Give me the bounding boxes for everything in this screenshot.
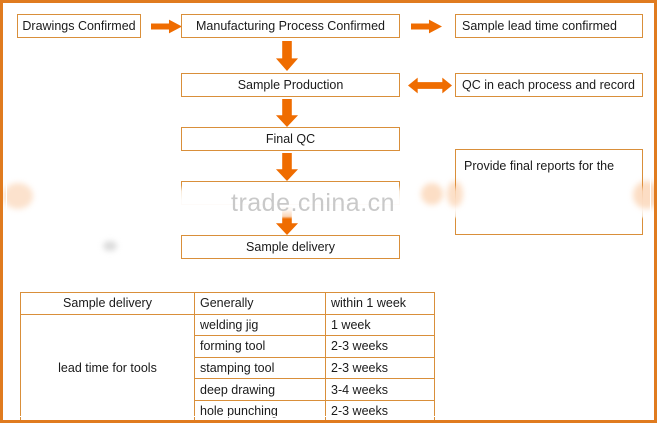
arrow-left-right-icon — [408, 77, 452, 94]
arrow-right-icon — [151, 19, 182, 34]
watermark-blot — [3, 183, 33, 209]
table-cell-label: Sample delivery — [21, 293, 195, 315]
node-final-qc: Final QC — [181, 127, 400, 151]
table-row: Sample delivery Generally within 1 week — [21, 293, 435, 315]
node-label: Drawings Confirmed — [22, 19, 135, 33]
flowchart-canvas: Drawings Confirmed Manufacturing Process… — [0, 0, 657, 423]
table-cell-item: forming tool — [195, 336, 326, 358]
table-cell-item: deep drawing — [195, 379, 326, 401]
node-label: Sample delivery — [246, 240, 335, 254]
table-cell-item: stamping tool — [195, 357, 326, 379]
node-sample-delivery: Sample delivery — [181, 235, 400, 259]
lead-time-table: Sample delivery Generally within 1 week … — [20, 292, 435, 423]
node-label: Provide final reports for the — [464, 159, 614, 173]
table-cell-time: 2-3 weeks — [326, 357, 435, 379]
table-cell-label: lead time for tools — [21, 314, 195, 422]
table-cell-item: Generally — [195, 293, 326, 315]
table-cell-time: within 1 week — [326, 293, 435, 315]
table-cell-time: 2-3 weeks — [326, 400, 435, 422]
node-provide-final-reports: Provide final reports for the — [455, 149, 643, 235]
node-obscured — [181, 181, 400, 205]
node-label: Final QC — [266, 132, 315, 146]
table-cell-time: 1 week — [326, 314, 435, 336]
node-qc-each-process: QC in each process and record — [455, 73, 643, 97]
table-cell-time: 3-4 weeks — [326, 379, 435, 401]
arrow-down-icon — [275, 99, 299, 127]
arrow-down-icon — [275, 41, 299, 71]
node-drawings-confirmed: Drawings Confirmed — [17, 14, 141, 38]
node-sample-production: Sample Production — [181, 73, 400, 97]
table-cell-item: welding jig — [195, 314, 326, 336]
table-cell-item: hole punching — [195, 400, 326, 422]
node-label: Manufacturing Process Confirmed — [196, 19, 385, 33]
arrow-down-icon — [275, 207, 299, 235]
watermark-blot — [101, 193, 127, 209]
table-row: lead time for tools welding jig 1 week — [21, 314, 435, 336]
lead-time-table-body: Sample delivery Generally within 1 week … — [21, 293, 435, 423]
node-label: Sample lead time confirmed — [462, 19, 617, 33]
watermark-blot — [421, 183, 443, 205]
table-cell-time: 2-3 weeks — [326, 336, 435, 358]
node-label: Sample Production — [238, 78, 344, 92]
node-manufacturing-process-confirmed: Manufacturing Process Confirmed — [181, 14, 400, 38]
arrow-right-icon — [411, 19, 442, 34]
node-sample-lead-time-confirmed: Sample lead time confirmed — [455, 14, 643, 38]
arrow-down-icon — [275, 153, 299, 181]
node-label: QC in each process and record — [462, 78, 635, 92]
watermark-speck — [103, 241, 117, 251]
